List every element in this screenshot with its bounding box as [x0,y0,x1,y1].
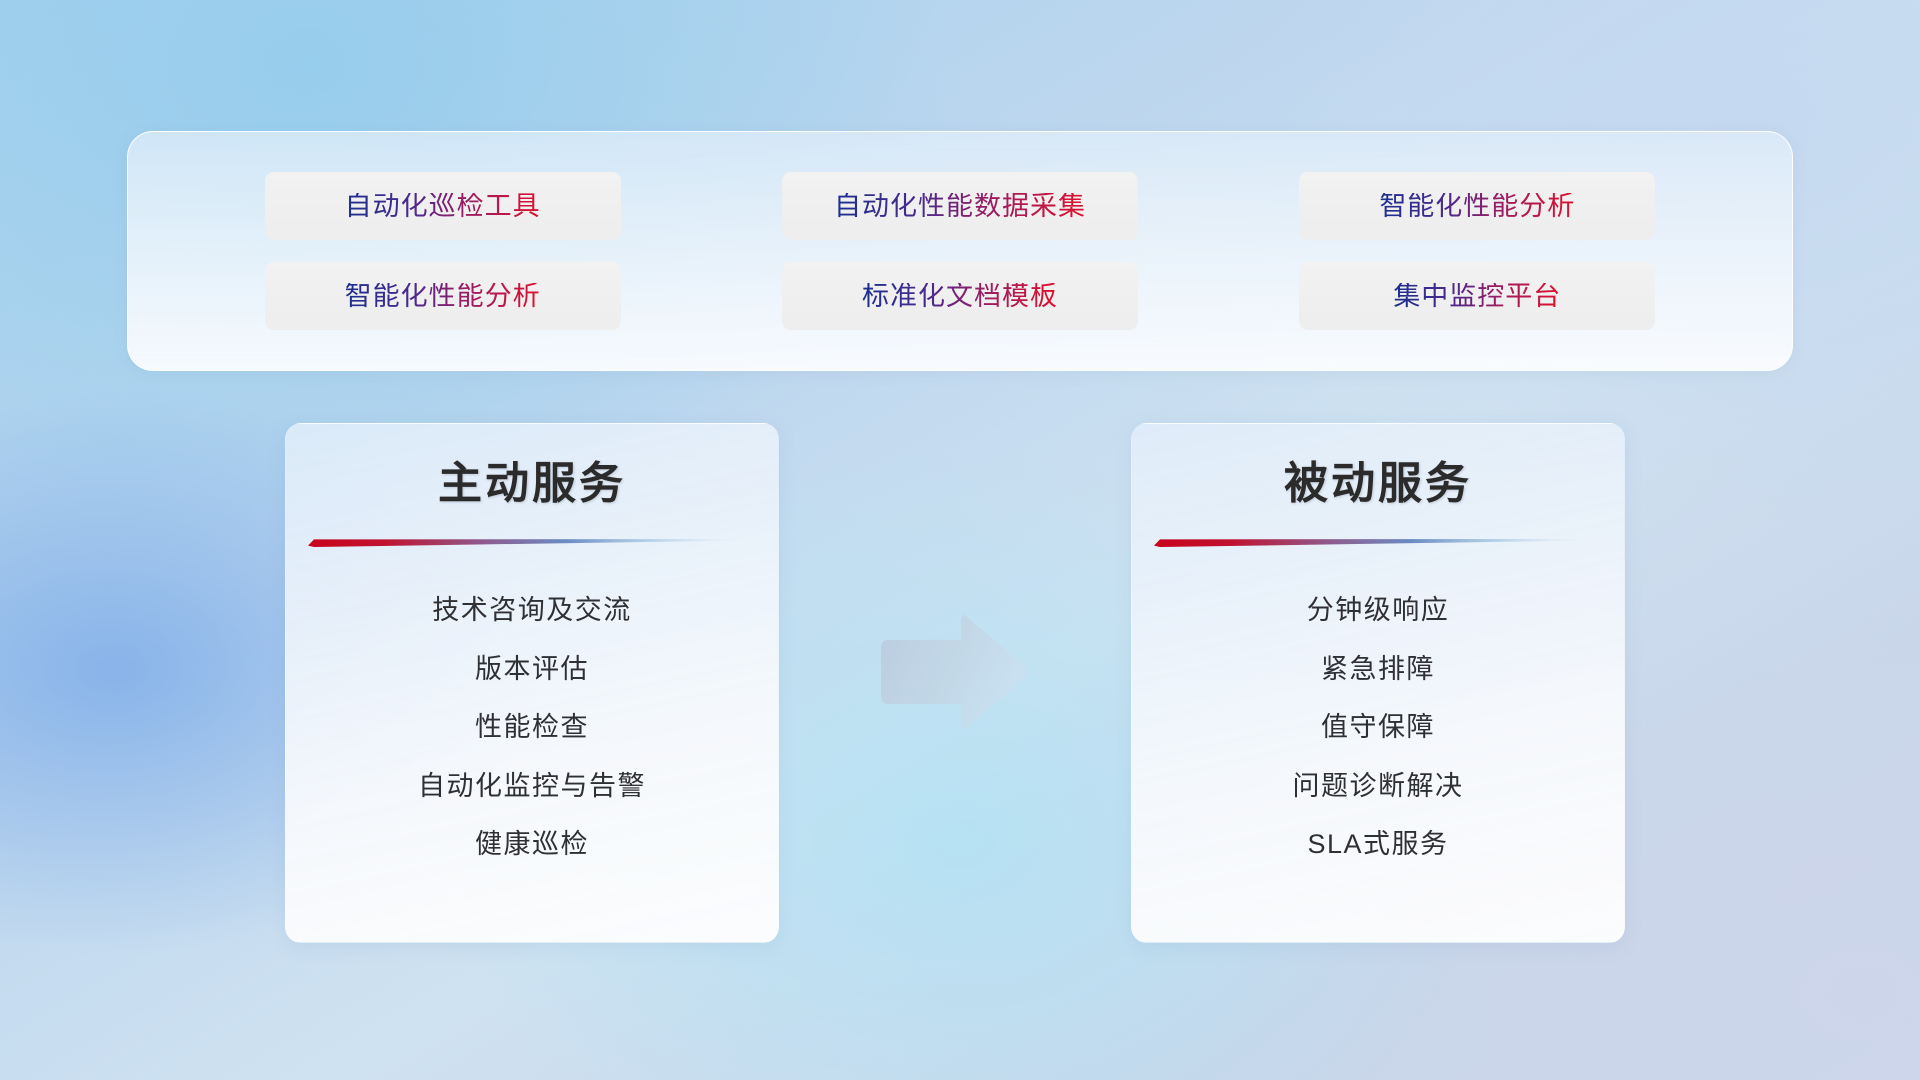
capability-chip[interactable]: 标准化文档模板 [782,262,1138,330]
list-item: 性能检查 [475,711,589,743]
card-title: 被动服务 [1154,460,1602,508]
capability-chip-label: 自动化性能数据采集 [834,193,1086,220]
list-item: 自动化监控与告警 [418,770,646,802]
list-item: 技术咨询及交流 [432,594,632,626]
list-item: 健康巡检 [475,828,589,860]
capability-chip-label: 智能化性能分析 [1379,193,1575,220]
capability-chip[interactable]: 集中监控平台 [1299,262,1655,330]
capability-row-1: 自动化巡检工具 自动化性能数据采集 智能化性能分析 [128,172,1792,240]
list-item: 问题诊断解决 [1293,770,1464,802]
capability-chip-label: 标准化文档模板 [862,283,1058,310]
card-divider-icon [1154,536,1584,547]
capability-chip[interactable]: 自动化性能数据采集 [782,172,1138,240]
service-card-proactive: 主动服务 技术咨询及交流 版本评估 性能检查 自动化监控与告警 健康巡检 [285,423,779,943]
capability-chip-label: 智能化性能分析 [345,283,541,310]
list-item: SLA式服务 [1307,828,1448,860]
arrow-right-icon [873,612,1033,732]
service-list: 分钟级响应 紧急排障 值守保障 问题诊断解决 SLA式服务 [1154,594,1602,860]
list-item: 值守保障 [1321,711,1435,743]
capability-row-2: 智能化性能分析 标准化文档模板 集中监控平台 [128,262,1792,330]
capability-chip-label: 集中监控平台 [1393,283,1561,310]
capability-panel: 自动化巡检工具 自动化性能数据采集 智能化性能分析 智能化性能分析 标准化文档模… [127,131,1793,371]
service-card-reactive: 被动服务 分钟级响应 紧急排障 值守保障 问题诊断解决 SLA式服务 [1131,423,1625,943]
capability-chip[interactable]: 智能化性能分析 [265,262,621,330]
card-title: 主动服务 [308,460,756,508]
card-divider-icon [308,536,738,547]
list-item: 分钟级响应 [1307,594,1450,626]
list-item: 版本评估 [475,653,589,685]
capability-chip[interactable]: 自动化巡检工具 [265,172,621,240]
service-list: 技术咨询及交流 版本评估 性能检查 自动化监控与告警 健康巡检 [308,594,756,860]
capability-chip-label: 自动化巡检工具 [345,193,541,220]
capability-chip[interactable]: 智能化性能分析 [1299,172,1655,240]
list-item: 紧急排障 [1321,653,1435,685]
